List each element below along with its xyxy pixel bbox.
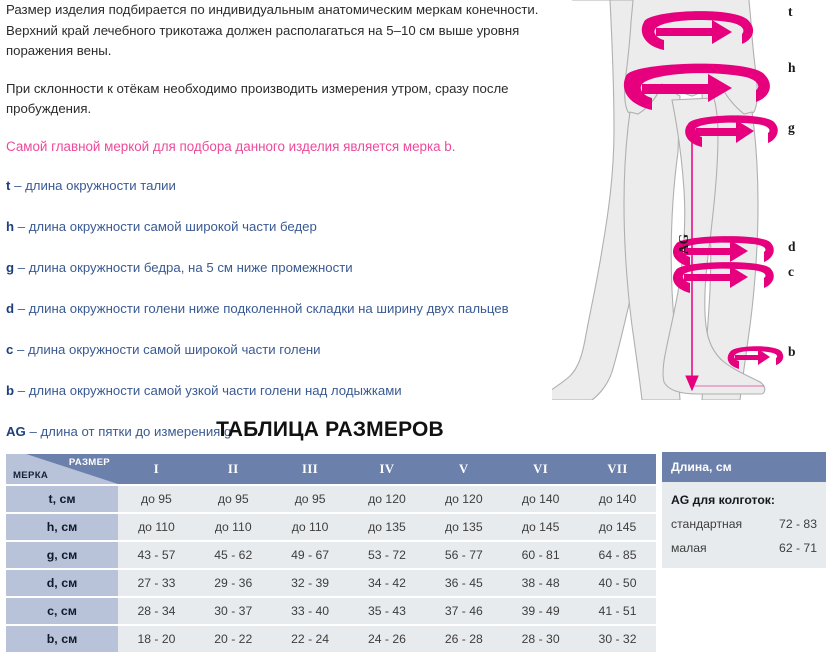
intro-paragraph-2: При склонности к отёкам необходимо произ…	[6, 79, 566, 120]
column-header-5: V	[425, 454, 502, 484]
cell-h-6: до 145	[502, 514, 579, 540]
size-table-header-row: РАЗМЕР МЕРКА I II III IV V VI VII	[6, 454, 656, 484]
cell-b-6: 28 - 30	[502, 626, 579, 652]
length-row-standard: стандартная 72 - 83	[671, 512, 817, 536]
size-guide-page: Размер изделия подбирается по индивидуал…	[0, 0, 832, 652]
diagram-label-c: c	[788, 264, 794, 280]
cell-b-2: 20 - 22	[195, 626, 272, 652]
legend-key-c: c	[6, 342, 13, 357]
length-panel-title: AG для колготок:	[671, 488, 817, 512]
cell-h-7: до 145	[579, 514, 656, 540]
column-header-1: I	[118, 454, 195, 484]
length-row-standard-name: стандартная	[671, 512, 742, 536]
column-header-4: IV	[349, 454, 426, 484]
legend-text-g: – длина окружности бедра, на 5 см ниже п…	[18, 260, 353, 275]
legend-text-b: – длина окружности самой узкой части гол…	[18, 383, 402, 398]
body-silhouette	[552, 0, 765, 400]
size-table-head: РАЗМЕР МЕРКА I II III IV V VI VII	[6, 454, 656, 484]
length-row-standard-value: 72 - 83	[779, 512, 817, 536]
table-title: ТАБЛИЦА РАЗМЕРОВ	[0, 418, 660, 442]
diagram-label-h: h	[788, 60, 796, 76]
anatomical-measurement-diagram: t h g d c b AG	[552, 0, 832, 400]
legend-item-g: g – длина окружности бедра, на 5 см ниже…	[6, 259, 566, 277]
length-row-small-name: малая	[671, 536, 707, 560]
column-header-3: III	[272, 454, 349, 484]
corner-label-size: РАЗМЕР	[69, 457, 110, 468]
cell-c-4: 35 - 43	[349, 598, 426, 624]
cell-h-5: до 135	[425, 514, 502, 540]
cell-g-7: 64 - 85	[579, 542, 656, 568]
diagram-label-d: d	[788, 239, 796, 255]
cell-c-1: 28 - 34	[118, 598, 195, 624]
legend-item-t: t – длина окружности талии	[6, 177, 566, 195]
cell-d-1: 27 - 33	[118, 570, 195, 596]
intro-paragraph-1: Размер изделия подбирается по индивидуал…	[6, 0, 566, 62]
legend-text-h: – длина окружности самой широкой части б…	[18, 219, 317, 234]
table-row: t, см до 95 до 95 до 95 до 120 до 120 до…	[6, 486, 656, 512]
cell-h-1: до 110	[118, 514, 195, 540]
diagram-label-t: t	[788, 4, 793, 20]
row-label-d: d, см	[6, 570, 118, 596]
cell-b-1: 18 - 20	[118, 626, 195, 652]
cell-t-7: до 140	[579, 486, 656, 512]
cell-g-3: 49 - 67	[272, 542, 349, 568]
cell-d-3: 32 - 39	[272, 570, 349, 596]
cell-d-6: 38 - 48	[502, 570, 579, 596]
legend-item-h: h – длина окружности самой широкой части…	[6, 218, 566, 236]
table-corner-cell: РАЗМЕР МЕРКА	[6, 454, 118, 484]
cell-g-5: 56 - 77	[425, 542, 502, 568]
length-panel-header: Длина, см	[662, 452, 826, 482]
cell-b-5: 26 - 28	[425, 626, 502, 652]
legend-key-h: h	[6, 219, 14, 234]
cell-d-4: 34 - 42	[349, 570, 426, 596]
table-row: b, см 18 - 20 20 - 22 22 - 24 24 - 26 26…	[6, 626, 656, 652]
diagram-label-ag: AG	[676, 234, 692, 254]
table-row: d, см 27 - 33 29 - 36 32 - 39 34 - 42 36…	[6, 570, 656, 596]
size-table: РАЗМЕР МЕРКА I II III IV V VI VII t, см …	[6, 452, 656, 652]
cell-g-1: 43 - 57	[118, 542, 195, 568]
intro-text-column: Размер изделия подбирается по индивидуал…	[6, 0, 566, 464]
cell-t-4: до 120	[349, 486, 426, 512]
length-panel: Длина, см AG для колготок: стандартная 7…	[662, 452, 826, 568]
size-table-body: t, см до 95 до 95 до 95 до 120 до 120 до…	[6, 486, 656, 652]
legend-text-c: – длина окружности самой широкой части г…	[17, 342, 321, 357]
cell-d-2: 29 - 36	[195, 570, 272, 596]
row-label-b: b, см	[6, 626, 118, 652]
diagram-label-g: g	[788, 120, 795, 136]
legend-key-g: g	[6, 260, 14, 275]
highlight-note: Самой главной меркой для подбора данного…	[6, 137, 566, 158]
row-label-t: t, см	[6, 486, 118, 512]
cell-b-4: 24 - 26	[349, 626, 426, 652]
legend-item-d: d – длина окружности голени ниже подколе…	[6, 300, 566, 318]
diagram-label-b: b	[788, 344, 796, 360]
cell-c-5: 37 - 46	[425, 598, 502, 624]
corner-label-measure: МЕРКА	[13, 470, 48, 481]
row-label-g: g, см	[6, 542, 118, 568]
cell-t-1: до 95	[118, 486, 195, 512]
cell-t-2: до 95	[195, 486, 272, 512]
column-header-6: VI	[502, 454, 579, 484]
table-row: h, см до 110 до 110 до 110 до 135 до 135…	[6, 514, 656, 540]
cell-g-2: 45 - 62	[195, 542, 272, 568]
column-header-2: II	[195, 454, 272, 484]
cell-d-7: 40 - 50	[579, 570, 656, 596]
table-row: c, см 28 - 34 30 - 37 33 - 40 35 - 43 37…	[6, 598, 656, 624]
legend-key-d: d	[6, 301, 14, 316]
cell-d-5: 36 - 45	[425, 570, 502, 596]
row-label-c: c, см	[6, 598, 118, 624]
cell-b-7: 30 - 32	[579, 626, 656, 652]
legend-text-t: – длина окружности талии	[14, 178, 176, 193]
cell-c-6: 39 - 49	[502, 598, 579, 624]
cell-t-5: до 120	[425, 486, 502, 512]
length-panel-body: AG для колготок: стандартная 72 - 83 мал…	[662, 482, 826, 568]
cell-t-6: до 140	[502, 486, 579, 512]
cell-h-2: до 110	[195, 514, 272, 540]
length-row-small-value: 62 - 71	[779, 536, 817, 560]
cell-g-6: 60 - 81	[502, 542, 579, 568]
legend-item-c: c – длина окружности самой широкой части…	[6, 341, 566, 359]
legend-key-t: t	[6, 178, 10, 193]
cell-t-3: до 95	[272, 486, 349, 512]
legend-item-b: b – длина окружности самой узкой части г…	[6, 382, 566, 400]
table-row: g, см 43 - 57 45 - 62 49 - 67 53 - 72 56…	[6, 542, 656, 568]
length-row-small: малая 62 - 71	[671, 536, 817, 560]
cell-c-2: 30 - 37	[195, 598, 272, 624]
cell-h-3: до 110	[272, 514, 349, 540]
cell-b-3: 22 - 24	[272, 626, 349, 652]
cell-h-4: до 135	[349, 514, 426, 540]
measurement-arrow-b	[728, 346, 784, 369]
cell-c-3: 33 - 40	[272, 598, 349, 624]
cell-g-4: 53 - 72	[349, 542, 426, 568]
column-header-7: VII	[579, 454, 656, 484]
row-label-h: h, см	[6, 514, 118, 540]
legend-text-d: – длина окружности голени ниже подколенн…	[18, 301, 509, 316]
legend-key-b: b	[6, 383, 14, 398]
cell-c-7: 41 - 51	[579, 598, 656, 624]
